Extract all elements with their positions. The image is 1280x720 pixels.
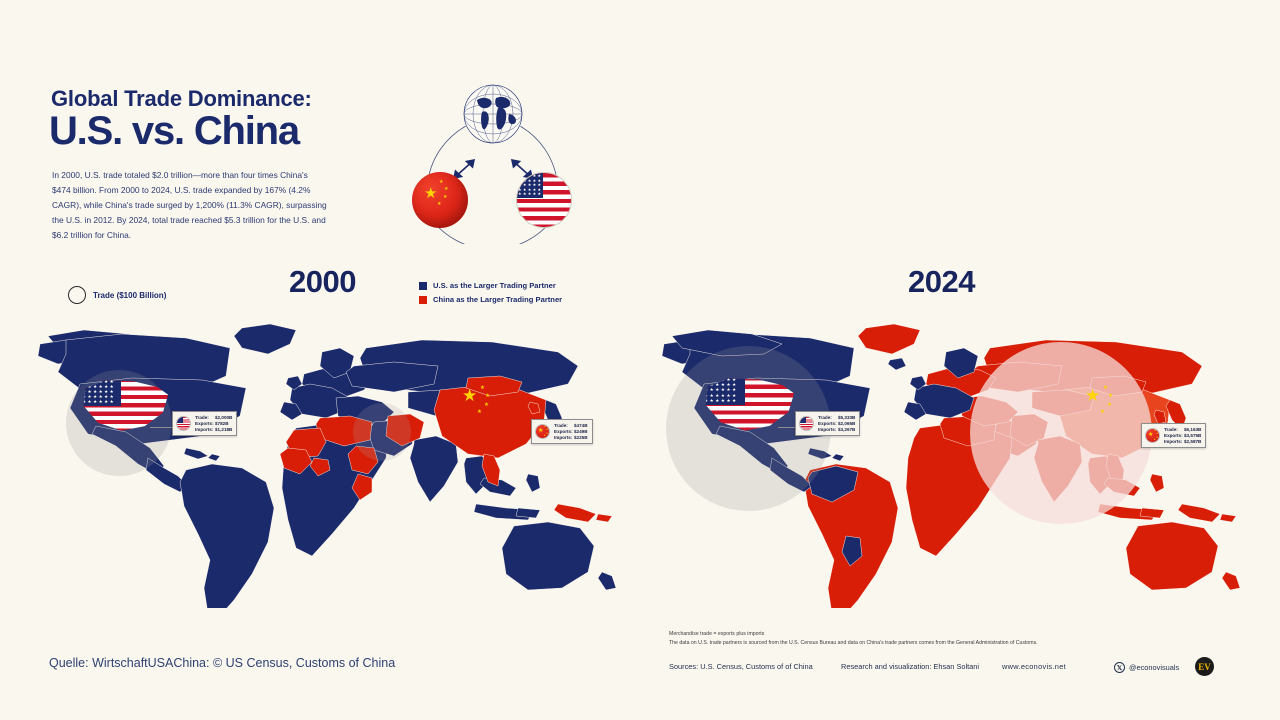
us-flag-icon: ★★★★★★★★★★★★★★★★★★★★★★★★★ <box>516 172 572 228</box>
callout-key: Imports: <box>1164 439 1184 445</box>
trade-triad-diagram: ★ ★ ★ ★ ★ ★★★★★★★★★★★★★★★★★★★★★★★★★ <box>404 84 580 244</box>
callout-row: Imports: $2,587B <box>1164 439 1201 445</box>
callout-key: Imports: <box>554 435 574 441</box>
china-flag-map-stars-2000: ★ ★ ★ ★ ★ <box>460 385 510 425</box>
header-description: In 2000, U.S. trade totaled $2.0 trillio… <box>52 168 328 243</box>
page-title: U.S. vs. China <box>49 110 299 152</box>
globe-icon <box>463 84 523 144</box>
us-flag-icon <box>176 416 191 431</box>
callout-value: $249B <box>574 429 588 435</box>
quelle-caption: Quelle: WirtschaftUSAChina: © US Census,… <box>49 656 395 670</box>
callout-key: Imports: <box>195 427 215 433</box>
footnote-definition: Merchandise trade = exports plus imports <box>669 630 764 639</box>
us-flag-icon <box>799 416 814 431</box>
us-callout-leader-2000 <box>150 427 172 428</box>
color-legend: U.S. as the Larger Trading Partner China… <box>419 281 562 309</box>
credit-author: Research and visualization: Ehsan Soltan… <box>841 662 979 671</box>
callout-value: $3,267B <box>838 427 855 433</box>
callout-value: $2,587B <box>1184 439 1201 445</box>
callout-value: $5,333B <box>838 415 855 421</box>
callout-key: Exports: <box>195 421 215 427</box>
cn-flag-icon: ★ ★ ★ ★ ★ <box>1145 428 1160 443</box>
credit-handle-label: @econovisuals <box>1129 663 1179 672</box>
credit-social-handle[interactable]: 𝕏 @econovisuals <box>1114 662 1179 673</box>
legend-label-china: China as the Larger Trading Partner <box>433 295 562 304</box>
us-callout-leader-2024 <box>778 427 795 428</box>
legend-circle-icon <box>68 286 86 304</box>
callout-row: Trade: $5,333B <box>818 415 855 421</box>
china-callout-2000: ★ ★ ★ ★ ★ Trade: $474B Exports: $249B Im… <box>531 419 593 444</box>
callout-row: Exports: $782B <box>195 421 232 427</box>
callout-key: Exports: <box>554 429 574 435</box>
callout-value: $1,218B <box>215 427 232 433</box>
us-callout-2024: Trade: $5,333B Exports: $2,065B Imports:… <box>795 411 860 436</box>
china-flag-map-overlay-2000 <box>358 406 406 454</box>
callout-row: Exports: $2,065B <box>818 421 855 427</box>
callout-row: Exports: $3,575B <box>1164 433 1201 439</box>
legend-item-china: China as the Larger Trading Partner <box>419 295 562 304</box>
credit-website[interactable]: www.econovis.net <box>1002 662 1066 671</box>
callout-row: Trade: $474B <box>554 423 588 429</box>
callout-key: Imports: <box>818 427 838 433</box>
callout-row: Imports: $225B <box>554 435 588 441</box>
us-callout-2000: Trade: $2,000B Exports: $782B Imports: $… <box>172 411 237 436</box>
year-label-2024: 2024 <box>908 264 975 300</box>
callout-value: $6,163B <box>1184 427 1201 433</box>
world-map-2000: ★★★★★★★★★★★★★★★★★★★★★★★★★★★★★★ <box>36 318 636 608</box>
callout-value: $782B <box>215 421 229 427</box>
callout-row: Trade: $2,000B <box>195 415 232 421</box>
world-map-2024: ★★★★★★★★★★★★★★★★★★★★★★★★★★★★★★ <box>660 318 1260 608</box>
callout-value: $2,065B <box>838 421 855 427</box>
bubble-size-legend-label: Trade ($100 Billion) <box>93 291 166 300</box>
econovis-logo: EV <box>1195 657 1214 676</box>
credit-sources: Sources: U.S. Census, Customs of of Chin… <box>669 662 813 671</box>
legend-label-us: U.S. as the Larger Trading Partner <box>433 281 556 290</box>
callout-key: Exports: <box>818 421 838 427</box>
china-callout-2024: ★ ★ ★ ★ ★ Trade: $6,163B Exports: $3,575… <box>1141 423 1206 448</box>
legend-item-us: U.S. as the Larger Trading Partner <box>419 281 562 290</box>
callout-key: Trade: <box>1164 427 1184 433</box>
china-flag-map-stars-2024: ★ ★ ★ ★ ★ <box>1083 385 1133 425</box>
bubble-size-legend: Trade ($100 Billion) <box>68 286 166 304</box>
legend-swatch-red-icon <box>419 296 427 304</box>
callout-row: Exports: $249B <box>554 429 588 435</box>
callout-key: Trade: <box>554 423 574 429</box>
callout-value: $474B <box>574 423 588 429</box>
callout-key: Exports: <box>1164 433 1184 439</box>
china-trade-bubble-2024 <box>970 342 1152 524</box>
callout-row: Imports: $3,267B <box>818 427 855 433</box>
callout-value: $2,000B <box>215 415 232 421</box>
x-twitter-icon[interactable]: 𝕏 <box>1114 662 1125 673</box>
callout-value: $3,575B <box>1184 433 1201 439</box>
callout-key: Trade: <box>195 415 215 421</box>
infographic-canvas: Global Trade Dominance: U.S. vs. China I… <box>0 0 1280 720</box>
callout-row: Trade: $6,163B <box>1164 427 1201 433</box>
year-label-2000: 2000 <box>289 264 356 300</box>
cn-flag-icon: ★ ★ ★ ★ ★ <box>535 424 550 439</box>
legend-swatch-navy-icon <box>419 282 427 290</box>
china-flag-icon: ★ ★ ★ ★ ★ <box>412 172 468 228</box>
callout-row: Imports: $1,218B <box>195 427 232 433</box>
footnote-source-detail: The data on U.S. trade partners is sourc… <box>669 639 1038 648</box>
callout-value: $225B <box>574 435 588 441</box>
callout-key: Trade: <box>818 415 838 421</box>
